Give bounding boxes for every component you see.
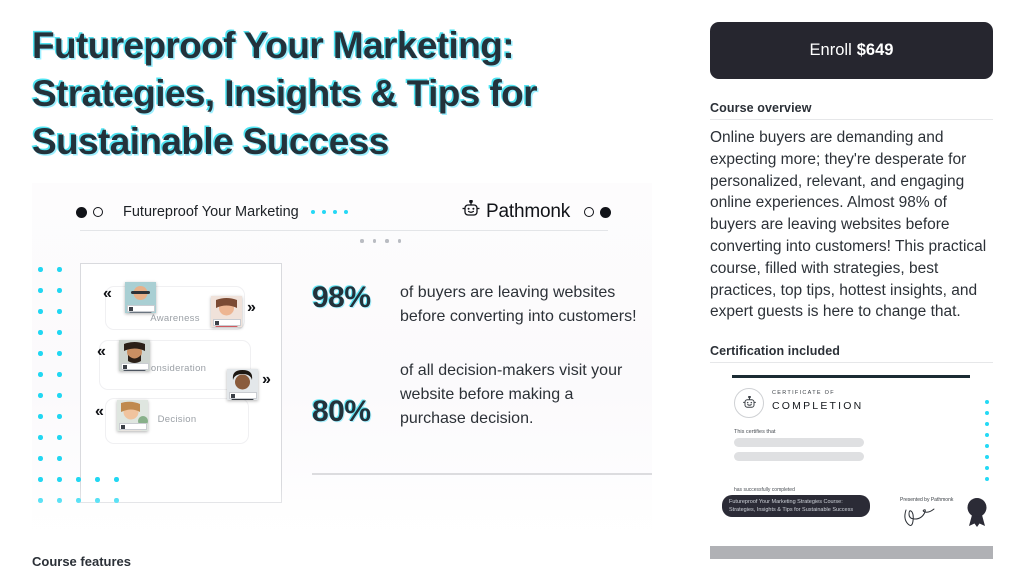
header-dots-left xyxy=(76,207,103,218)
cyan-dot xyxy=(38,288,43,293)
hollow-dot-icon xyxy=(93,207,103,217)
cyan-dot xyxy=(57,498,62,503)
chevron-right-icon: » xyxy=(247,300,253,316)
stat-value: 80% xyxy=(312,395,400,429)
pathmonk-brand: Pathmonk xyxy=(460,200,570,225)
course-sidebar: Enroll $649 Course overview Online buyer… xyxy=(710,0,993,566)
sidebar-bottom-bar xyxy=(710,546,993,559)
stat-text: of all decision-makers visit your websit… xyxy=(400,359,642,431)
course-overview-heading: Course overview xyxy=(710,101,993,115)
cyan-dot xyxy=(57,309,62,314)
cyan-dot xyxy=(57,372,62,377)
certificate-robot-icon xyxy=(734,388,764,418)
cyan-dot xyxy=(114,477,119,482)
course-features-heading: Course features xyxy=(32,554,131,566)
cyan-dot xyxy=(985,422,989,426)
cyan-dot xyxy=(38,414,43,419)
cyan-dot xyxy=(38,351,43,356)
course-page: Futureproof Your Marketing: Strategies, … xyxy=(0,0,1024,566)
cyan-dot xyxy=(76,477,81,482)
certification-section: Certification included xyxy=(710,344,993,363)
avatar xyxy=(227,369,258,400)
stat-value: 98% xyxy=(312,281,400,315)
cyan-dot xyxy=(38,309,43,314)
cyan-dot xyxy=(95,477,100,482)
loading-dots-decoration xyxy=(360,239,401,243)
enroll-price: $649 xyxy=(857,41,894,60)
certificate-completed-label: has successfully completed xyxy=(734,487,795,493)
course-overview-text: Online buyers are demanding and expectin… xyxy=(710,127,993,323)
solid-dot-icon xyxy=(76,207,87,218)
stat-text: of buyers are leaving websites before co… xyxy=(400,281,642,329)
stats-divider xyxy=(312,473,652,475)
cyan-dot xyxy=(38,330,43,335)
enroll-button[interactable]: Enroll $649 xyxy=(710,22,993,79)
enroll-label: Enroll xyxy=(810,41,852,60)
stat-item: 80% of all decision-makers visit your we… xyxy=(312,359,642,431)
certificate-course-name-line2: Strategies, Insights & Tips for Sustaina… xyxy=(729,506,863,514)
certificate-presented-by: Presented by Pathmonk xyxy=(900,497,953,503)
cyan-dot xyxy=(38,456,43,461)
award-seal-icon xyxy=(965,497,989,532)
certificate-top-rule xyxy=(732,375,970,378)
cyan-dot xyxy=(38,498,43,503)
cyan-dot xyxy=(57,477,62,482)
hollow-dot-icon xyxy=(584,207,594,217)
cyan-dot xyxy=(57,351,62,356)
avatar xyxy=(211,296,242,327)
cyan-dot xyxy=(38,393,43,398)
stats-list: 98% of buyers are leaving websites befor… xyxy=(312,281,642,431)
cyan-dot xyxy=(57,330,62,335)
section-divider xyxy=(710,362,993,363)
page-title: Futureproof Your Marketing: Strategies, … xyxy=(32,22,652,166)
cyan-dot xyxy=(57,435,62,440)
certificate-name-placeholder xyxy=(734,452,864,461)
certificate-preview[interactable]: CERTIFICATE OF COMPLETION This certifies… xyxy=(710,364,993,536)
header-dots-right xyxy=(584,207,611,218)
stat-item: 98% of buyers are leaving websites befor… xyxy=(312,281,642,329)
certificate-name-placeholder xyxy=(734,438,864,447)
cyan-dot xyxy=(985,411,989,415)
cyan-dot xyxy=(57,456,62,461)
thumbnail-header-divider xyxy=(80,230,608,231)
cyan-dot-grid-left xyxy=(38,267,148,527)
cyan-dots-decoration xyxy=(311,210,348,214)
cyan-dot xyxy=(38,267,43,272)
cyan-dot xyxy=(114,498,119,503)
signature-icon xyxy=(902,504,942,535)
certificate-course-name: Futureproof Your Marketing Strategies Co… xyxy=(722,495,870,517)
certificate-certifies-label: This certifies that xyxy=(734,429,776,435)
section-divider xyxy=(710,119,993,120)
cyan-dot xyxy=(57,267,62,272)
certificate-course-name-line1: Futureproof Your Marketing Strategies Co… xyxy=(729,498,863,506)
robot-icon xyxy=(460,200,482,225)
cyan-dot xyxy=(57,288,62,293)
course-preview-thumbnail[interactable]: Futureproof Your Marketing Pathmonk xyxy=(32,183,652,555)
thumbnail-header: Futureproof Your Marketing Pathmonk xyxy=(76,195,611,229)
brand-name: Pathmonk xyxy=(486,201,570,223)
course-overview-section: Course overview Online buyers are demand… xyxy=(710,101,993,323)
cyan-dot xyxy=(985,466,989,470)
thumbnail-header-title: Futureproof Your Marketing xyxy=(123,204,299,220)
cyan-dot xyxy=(985,477,989,481)
certificate-title: COMPLETION xyxy=(772,400,863,412)
cyan-dot xyxy=(57,414,62,419)
certificate-kicker: CERTIFICATE OF xyxy=(772,390,835,396)
cyan-dot xyxy=(985,455,989,459)
chevron-right-icon: » xyxy=(262,372,268,388)
cyan-dot xyxy=(985,444,989,448)
cyan-dot xyxy=(95,498,100,503)
cyan-dot xyxy=(38,477,43,482)
cyan-dot xyxy=(76,498,81,503)
certification-heading: Certification included xyxy=(710,344,993,358)
cyan-dot xyxy=(985,400,989,404)
cyan-dot xyxy=(38,435,43,440)
cyan-dot xyxy=(57,393,62,398)
cyan-dot xyxy=(985,433,989,437)
cyan-dot xyxy=(38,372,43,377)
solid-dot-icon xyxy=(600,207,611,218)
